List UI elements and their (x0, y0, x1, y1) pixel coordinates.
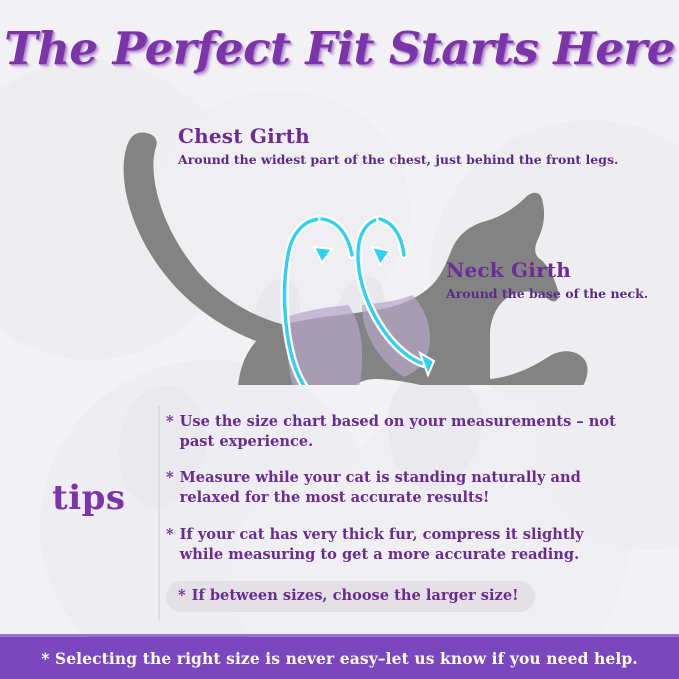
tip-bullet-icon: * (166, 525, 174, 545)
page-title: The Perfect Fit Starts Here (0, 22, 679, 75)
tips-list: * Use the size chart based on your measu… (166, 412, 626, 612)
footer-banner: * Selecting the right size is never easy… (0, 634, 679, 679)
tips-label: tips (52, 478, 126, 518)
tips-divider (158, 406, 160, 620)
tip-text: If your cat has very thick fur, compress… (180, 525, 626, 565)
tip-item: * Measure while your cat is standing nat… (166, 468, 626, 508)
tip-bullet-icon: * (178, 586, 186, 606)
tip-item-highlighted: * If between sizes, choose the larger si… (166, 581, 535, 612)
neck-loop-arrowhead (372, 247, 390, 265)
tip-text: Use the size chart based on your measure… (180, 412, 626, 452)
tip-text: Measure while your cat is standing natur… (180, 468, 626, 508)
tip-text: If between sizes, choose the larger size… (192, 586, 519, 606)
footer-banner-text: * Selecting the right size is never easy… (41, 649, 638, 668)
size-guide-infographic: The Perfect Fit Starts Here (0, 0, 679, 679)
callout-neck-body: Around the base of the neck. (446, 286, 648, 303)
tip-item: * If your cat has very thick fur, compre… (166, 525, 626, 565)
callout-chest-girth: Chest Girth Around the widest part of th… (178, 124, 618, 169)
callout-neck-girth: Neck Girth Around the base of the neck. (446, 258, 648, 303)
callout-chest-heading: Chest Girth (178, 124, 618, 148)
tip-bullet-icon: * (166, 412, 174, 432)
tip-item: * Use the size chart based on your measu… (166, 412, 626, 452)
callout-chest-body: Around the widest part of the chest, jus… (178, 152, 618, 169)
chest-loop-arrowhead (314, 247, 332, 263)
tip-bullet-icon: * (166, 468, 174, 488)
callout-neck-heading: Neck Girth (446, 258, 648, 282)
